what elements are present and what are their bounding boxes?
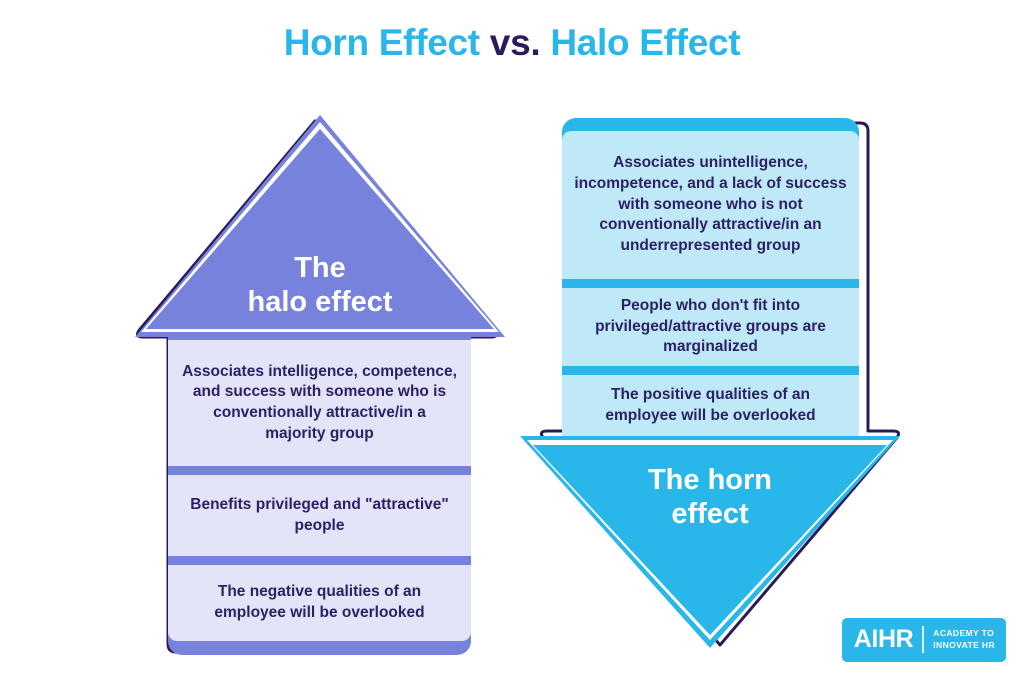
horn-divider-2 [562, 366, 859, 375]
halo-head-label-line1: The [294, 252, 346, 284]
halo-divider-2 [168, 556, 471, 565]
halo-effect-arrow: Associates intelligence, competence, and… [135, 115, 505, 655]
halo-divider-1 [168, 466, 471, 475]
horn-panel-2: People who don't fit into privileged/att… [562, 288, 859, 366]
title-part-vs: vs. [490, 22, 541, 63]
horn-effect-arrow: Associates unintelligence, incompetence,… [520, 118, 900, 648]
horn-arrow-head-inner: The horn effect [533, 445, 887, 635]
horn-arrow-shaft: Associates unintelligence, incompetence,… [562, 118, 859, 448]
horn-arrow-head: The horn effect [520, 436, 900, 648]
halo-panel-2: Benefits privileged and "attractive" peo… [168, 475, 471, 556]
aihr-logo[interactable]: AIHR ACADEMY TO INNOVATE HR [842, 618, 1006, 662]
halo-arrow-head-inner: The halo effect [146, 129, 494, 329]
horn-arrow-head-label: The horn effect [648, 463, 772, 531]
horn-panel-1: Associates unintelligence, incompetence,… [562, 131, 859, 279]
halo-panel-1: Associates intelligence, competence, and… [168, 340, 471, 466]
page-title: Horn Effect vs. Halo Effect [0, 22, 1024, 64]
title-part-horn-effect: Horn Effect [284, 22, 480, 63]
aihr-logo-tagline: ACADEMY TO INNOVATE HR [933, 628, 995, 650]
horn-head-label-line1: The horn [648, 464, 772, 496]
title-part-halo-effect: Halo Effect [550, 22, 740, 63]
halo-panel-3: The negative qualities of an employee wi… [168, 565, 471, 641]
aihr-logo-tagline-line2: INNOVATE HR [933, 640, 995, 650]
aihr-logo-tagline-line1: ACADEMY TO [933, 628, 994, 638]
halo-panel-stack: Associates intelligence, competence, and… [168, 340, 471, 641]
aihr-logo-divider [922, 626, 924, 653]
halo-head-label-line2: halo effect [247, 286, 392, 318]
horn-head-label-line2: effect [671, 498, 748, 530]
aihr-logo-mark: AIHR [854, 627, 914, 652]
halo-arrow-shaft: Associates intelligence, competence, and… [168, 328, 471, 655]
horn-panel-3: The positive qualities of an employee wi… [562, 375, 859, 436]
horn-divider-1 [562, 279, 859, 288]
halo-arrow-head: The halo effect [135, 115, 505, 337]
halo-arrow-head-label: The halo effect [247, 251, 392, 319]
horn-panel-stack: Associates unintelligence, incompetence,… [562, 131, 859, 436]
